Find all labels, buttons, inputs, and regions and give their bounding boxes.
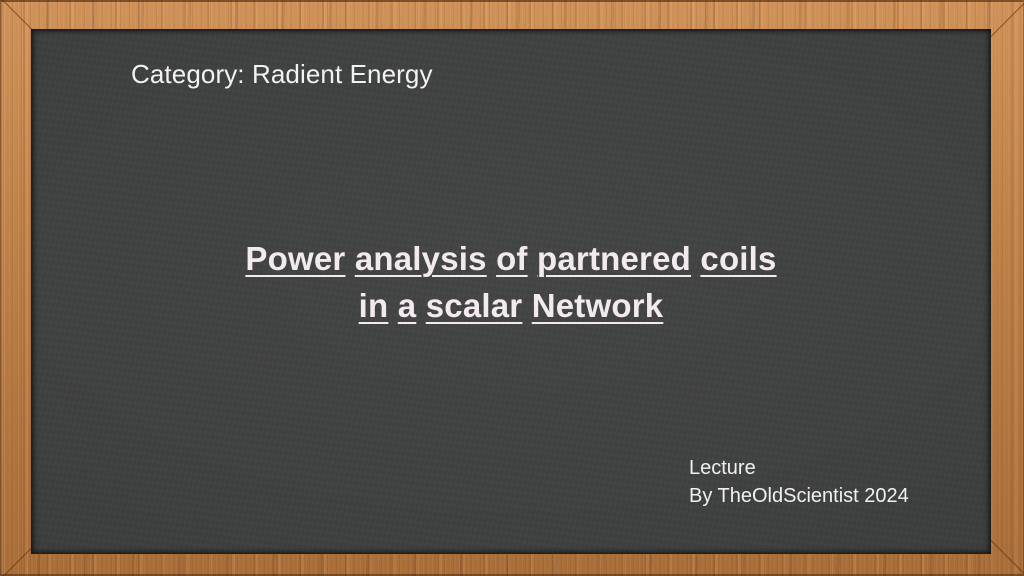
slide-title: Power analysis of partnered coils in a s… (31, 235, 991, 329)
title-word: coils (700, 240, 776, 277)
title-word: Power (245, 240, 345, 277)
slide-board-surface: Category: Radient Energy Power analysis … (31, 29, 991, 554)
title-word: partnered (537, 240, 691, 277)
credits-line-1: Lecture (689, 454, 961, 482)
title-word: of (496, 240, 528, 277)
title-line-1: Power analysis of partnered coils (31, 235, 991, 282)
presentation-slide: Category: Radient Energy Power analysis … (0, 0, 1024, 576)
title-word: scalar (426, 287, 523, 324)
title-word: in (359, 287, 389, 324)
title-word: analysis (355, 240, 487, 277)
credits-line-2: By TheOldScientist 2024 (689, 482, 961, 510)
credits-block: Lecture By TheOldScientist 2024 (689, 454, 961, 510)
title-word: Network (532, 287, 664, 324)
title-line-2: in a scalar Network (31, 282, 991, 329)
category-label: Category: Radient Energy (131, 59, 433, 90)
title-word: a (398, 287, 417, 324)
